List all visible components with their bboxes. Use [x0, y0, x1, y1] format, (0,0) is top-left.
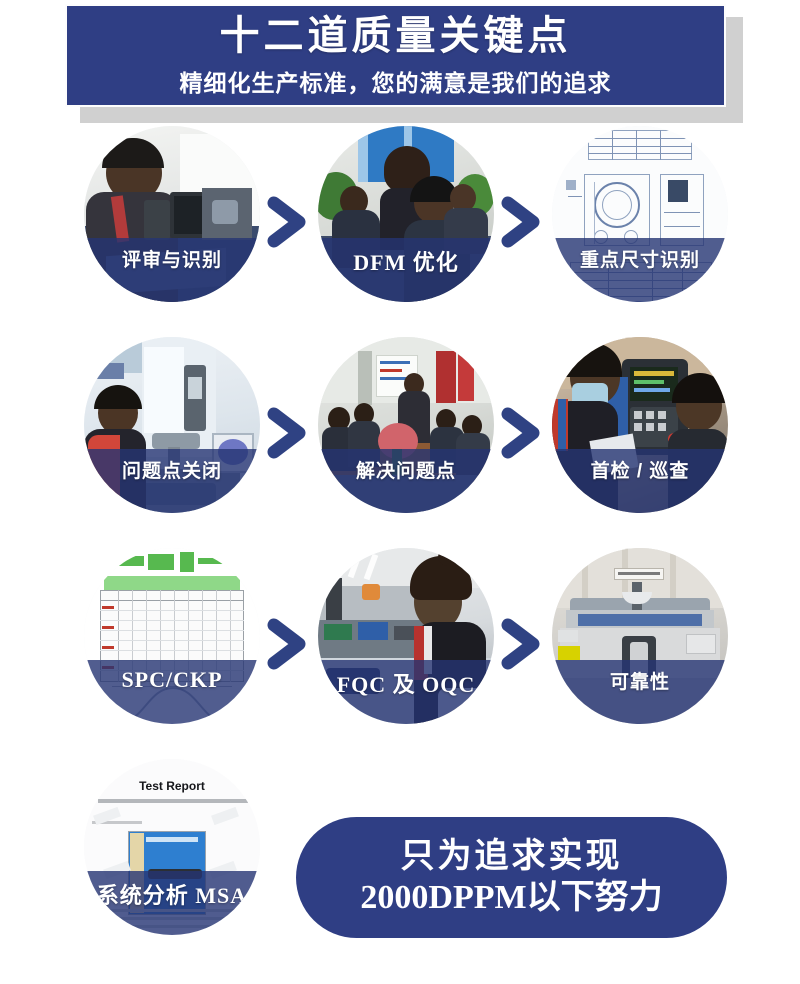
step-item-6[interactable]: 首检 / 巡查 [523, 337, 757, 537]
quality-checkpoints-poster: 十二道质量关键点 精细化生产标准，您的满意是我们的追求 [0, 0, 800, 984]
step-item-8[interactable]: FQC 及 OQC [289, 548, 523, 748]
steps-row-2: 问题点关闭 [0, 337, 800, 548]
step-label: 首检 / 巡查 [591, 456, 690, 483]
step-item-10[interactable]: Test Report [55, 759, 289, 959]
footer-goal-banner: 只为追求实现 2000DPPM以下努力 [296, 817, 727, 938]
step-item-9[interactable]: 可靠性 [523, 548, 757, 748]
step-item-7[interactable]: SPC/CKP [55, 548, 289, 748]
step-label: FQC 及 OQC [337, 667, 476, 699]
step-caption-4: 问题点关闭 [84, 449, 260, 513]
step-circle-9: 可靠性 [552, 548, 728, 724]
step-item-2[interactable]: DFM 优化 [289, 126, 523, 326]
step-caption-9: 可靠性 [552, 660, 728, 724]
step-caption-10: 系统分析 MSA [84, 871, 260, 935]
step-circle-8: FQC 及 OQC [318, 548, 494, 724]
step-item-5[interactable]: 解决问题点 [289, 337, 523, 537]
steps-row-1: 评审与识别 [0, 126, 800, 337]
step-item-1[interactable]: 评审与识别 [55, 126, 289, 326]
step-caption-8: FQC 及 OQC [318, 660, 494, 724]
step-label: DFM 优化 [353, 245, 459, 277]
page-title: 十二道质量关键点 [220, 14, 572, 58]
step-label: SPC/CKP [121, 667, 222, 693]
footer-line-1: 只为追求实现 [401, 839, 623, 875]
report-title: Test Report [120, 779, 224, 793]
page-subtitle: 精细化生产标准，您的满意是我们的追求 [180, 64, 612, 98]
step-caption-6: 首检 / 巡查 [552, 449, 728, 513]
step-caption-2: DFM 优化 [318, 238, 494, 302]
step-caption-5: 解决问题点 [318, 449, 494, 513]
step-caption-1: 评审与识别 [84, 238, 260, 302]
step-circle-5: 解决问题点 [318, 337, 494, 513]
step-circle-10: Test Report [84, 759, 260, 935]
steps-row-3: SPC/CKP [0, 548, 800, 759]
step-label: 系统分析 MSA [97, 878, 247, 910]
step-label: 可靠性 [610, 667, 670, 694]
step-label: 解决问题点 [356, 456, 456, 483]
step-circle-1: 评审与识别 [84, 126, 260, 302]
step-label: 重点尺寸识别 [580, 245, 700, 272]
footer-line-2: 2000DPPM以下努力 [360, 879, 662, 916]
step-circle-4: 问题点关闭 [84, 337, 260, 513]
step-item-3[interactable]: 重点尺寸识别 [523, 126, 757, 326]
step-circle-6: 首检 / 巡查 [552, 337, 728, 513]
step-caption-3: 重点尺寸识别 [552, 238, 728, 302]
step-circle-3: 重点尺寸识别 [552, 126, 728, 302]
step-circle-7: SPC/CKP [84, 548, 260, 724]
step-circle-2: DFM 优化 [318, 126, 494, 302]
step-caption-7: SPC/CKP [84, 660, 260, 724]
step-label: 评审与识别 [122, 245, 222, 272]
step-item-4[interactable]: 问题点关闭 [55, 337, 289, 537]
step-label: 问题点关闭 [122, 456, 222, 483]
header-banner: 十二道质量关键点 精细化生产标准，您的满意是我们的追求 [65, 4, 726, 107]
